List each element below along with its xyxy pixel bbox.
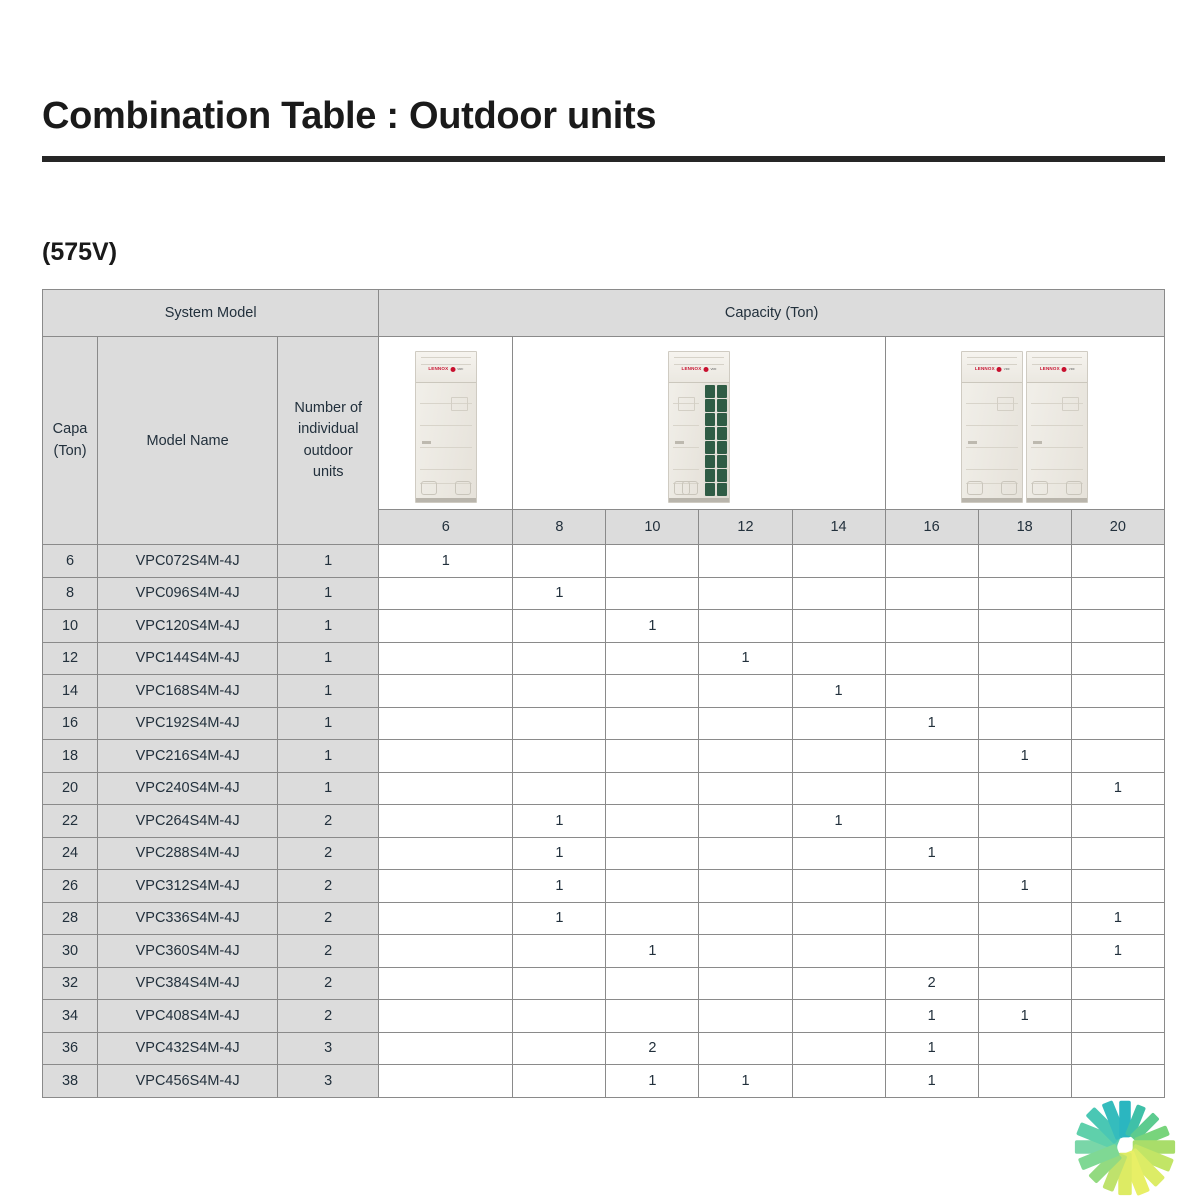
panel-vent bbox=[422, 441, 431, 444]
capacity-column-header-8: 8 bbox=[513, 510, 606, 545]
row-capa-ton: 32 bbox=[43, 967, 98, 1000]
row-capa-ton: 36 bbox=[43, 1032, 98, 1065]
matrix-cell-12ton bbox=[699, 675, 792, 708]
unit-body bbox=[1027, 383, 1087, 498]
unit-top-grille: LENNOXVRF bbox=[962, 352, 1022, 383]
matrix-cell-18ton bbox=[978, 1065, 1071, 1098]
matrix-cell-8ton bbox=[513, 967, 606, 1000]
matrix-cell-10ton: 1 bbox=[606, 610, 699, 643]
title-underline-rule bbox=[42, 156, 1165, 162]
unit-top-grille: LENNOXVRF bbox=[669, 352, 729, 383]
table-group-header-row: System ModelCapacity (Ton) bbox=[43, 290, 1165, 337]
row-number-of-units: 2 bbox=[278, 837, 379, 870]
panel-hatch bbox=[678, 397, 695, 411]
unit-base-rail bbox=[1027, 498, 1087, 502]
lennox-dot-icon bbox=[450, 367, 455, 372]
lennox-subtext: VRF bbox=[710, 368, 716, 371]
coil-fin bbox=[717, 385, 727, 398]
unit-front-panel bbox=[669, 383, 703, 498]
table-row: 30VPC360S4M-4J211 bbox=[43, 935, 1165, 968]
row-number-of-units: 1 bbox=[278, 610, 379, 643]
row-capa-ton: 6 bbox=[43, 545, 98, 578]
header-num-line4: units bbox=[278, 462, 378, 483]
unit-base-rail bbox=[416, 498, 476, 502]
panel-hatch bbox=[451, 397, 468, 411]
coil-fin bbox=[717, 441, 727, 454]
matrix-cell-20ton bbox=[1071, 1000, 1164, 1033]
matrix-cell-16ton: 2 bbox=[885, 967, 978, 1000]
row-capa-ton: 38 bbox=[43, 1065, 98, 1098]
matrix-cell-20ton bbox=[1071, 675, 1164, 708]
row-number-of-units: 1 bbox=[278, 642, 379, 675]
matrix-cell-16ton bbox=[885, 772, 978, 805]
table-row: 18VPC216S4M-4J11 bbox=[43, 740, 1165, 773]
matrix-cell-16ton bbox=[885, 870, 978, 903]
table-row: 22VPC264S4M-4J211 bbox=[43, 805, 1165, 838]
panel-seam bbox=[673, 469, 699, 470]
unit-body bbox=[416, 383, 476, 498]
matrix-cell-16ton bbox=[885, 642, 978, 675]
coil-fin bbox=[717, 469, 727, 482]
matrix-cell-16ton: 1 bbox=[885, 1000, 978, 1033]
row-model-name: VPC120S4M-4J bbox=[98, 610, 278, 643]
unit-image-group: LENNOXVRF bbox=[513, 337, 884, 509]
matrix-cell-20ton bbox=[1071, 1065, 1164, 1098]
coil-fin bbox=[705, 413, 715, 426]
matrix-cell-12ton bbox=[699, 1032, 792, 1065]
matrix-cell-20ton: 1 bbox=[1071, 935, 1164, 968]
matrix-cell-16ton bbox=[885, 577, 978, 610]
matrix-cell-20ton: 1 bbox=[1071, 772, 1164, 805]
coil-fin bbox=[705, 399, 715, 412]
outdoor-unit-illustration: LENNOXVRF bbox=[961, 351, 1023, 503]
combination-table: System ModelCapacity (Ton)Capa(Ton)Model… bbox=[42, 289, 1165, 1098]
matrix-cell-8ton bbox=[513, 772, 606, 805]
matrix-cell-16ton: 1 bbox=[885, 1065, 978, 1098]
capacity-column-header-14: 14 bbox=[792, 510, 885, 545]
row-model-name: VPC216S4M-4J bbox=[98, 740, 278, 773]
matrix-cell-8ton: 1 bbox=[513, 837, 606, 870]
row-model-name: VPC384S4M-4J bbox=[98, 967, 278, 1000]
row-capa-ton: 8 bbox=[43, 577, 98, 610]
table-row: 12VPC144S4M-4J11 bbox=[43, 642, 1165, 675]
table-row: 20VPC240S4M-4J11 bbox=[43, 772, 1165, 805]
matrix-cell-6ton bbox=[379, 1065, 513, 1098]
matrix-cell-14ton bbox=[792, 1000, 885, 1033]
matrix-cell-8ton bbox=[513, 740, 606, 773]
matrix-cell-16ton bbox=[885, 805, 978, 838]
panel-seam bbox=[420, 447, 472, 448]
matrix-cell-20ton bbox=[1071, 1032, 1164, 1065]
matrix-cell-18ton: 1 bbox=[978, 1000, 1071, 1033]
capacity-column-header-18: 18 bbox=[978, 510, 1071, 545]
matrix-cell-20ton: 1 bbox=[1071, 902, 1164, 935]
row-capa-ton: 18 bbox=[43, 740, 98, 773]
row-number-of-units: 1 bbox=[278, 772, 379, 805]
outdoor-unit-illustration: LENNOXVRF bbox=[415, 351, 477, 503]
row-model-name: VPC456S4M-4J bbox=[98, 1065, 278, 1098]
panel-base-l bbox=[421, 481, 437, 495]
row-number-of-units: 3 bbox=[278, 1065, 379, 1098]
matrix-cell-6ton bbox=[379, 870, 513, 903]
unit-front-panel bbox=[1027, 383, 1087, 498]
matrix-cell-14ton bbox=[792, 545, 885, 578]
matrix-cell-14ton bbox=[792, 902, 885, 935]
matrix-cell-12ton bbox=[699, 740, 792, 773]
matrix-cell-14ton bbox=[792, 967, 885, 1000]
coil-fin bbox=[717, 427, 727, 440]
panel-base-r bbox=[682, 481, 698, 495]
row-model-name: VPC336S4M-4J bbox=[98, 902, 278, 935]
coil-fin bbox=[717, 483, 727, 496]
row-number-of-units: 2 bbox=[278, 870, 379, 903]
row-number-of-units: 2 bbox=[278, 935, 379, 968]
matrix-cell-8ton bbox=[513, 1065, 606, 1098]
matrix-cell-20ton bbox=[1071, 740, 1164, 773]
matrix-cell-6ton bbox=[379, 740, 513, 773]
matrix-cell-18ton bbox=[978, 545, 1071, 578]
lennox-dot-icon bbox=[1062, 367, 1067, 372]
panel-base-l bbox=[1032, 481, 1048, 495]
panel-base-r bbox=[1066, 481, 1082, 495]
header-capacity-ton: Capacity (Ton) bbox=[379, 290, 1165, 337]
matrix-cell-6ton bbox=[379, 675, 513, 708]
row-capa-ton: 12 bbox=[43, 642, 98, 675]
table-row: 32VPC384S4M-4J22 bbox=[43, 967, 1165, 1000]
matrix-cell-10ton bbox=[606, 740, 699, 773]
table-subheader-image-row: Capa(Ton)Model NameNumber ofindividualou… bbox=[43, 337, 1165, 510]
matrix-cell-6ton bbox=[379, 805, 513, 838]
matrix-cell-8ton: 1 bbox=[513, 577, 606, 610]
twin-outdoor-unit: LENNOXVRFLENNOXVRF bbox=[885, 337, 1164, 510]
outdoor-unit-illustration: LENNOXVRF bbox=[1026, 351, 1088, 503]
panel-seam bbox=[1031, 469, 1083, 470]
row-capa-ton: 20 bbox=[43, 772, 98, 805]
matrix-cell-20ton bbox=[1071, 967, 1164, 1000]
lennox-wordmark: LENNOX bbox=[975, 367, 995, 372]
matrix-cell-14ton bbox=[792, 610, 885, 643]
header-num-line3: outdoor bbox=[278, 441, 378, 462]
lennox-brand-logo-icon: LENNOXVRF bbox=[1040, 367, 1075, 372]
panel-vent bbox=[968, 441, 977, 444]
matrix-cell-18ton: 1 bbox=[978, 870, 1071, 903]
row-model-name: VPC288S4M-4J bbox=[98, 837, 278, 870]
unit-image-group: LENNOXVRF bbox=[379, 337, 512, 509]
matrix-cell-20ton bbox=[1071, 837, 1164, 870]
panel-hatch bbox=[997, 397, 1014, 411]
capacity-column-header-10: 10 bbox=[606, 510, 699, 545]
header-model-name: Model Name bbox=[98, 337, 278, 545]
panel-seam bbox=[673, 425, 699, 426]
page-root: Combination Table : Outdoor units (575V)… bbox=[0, 0, 1200, 1200]
header-capa-line2: (Ton) bbox=[43, 441, 97, 462]
matrix-cell-10ton: 2 bbox=[606, 1032, 699, 1065]
row-model-name: VPC360S4M-4J bbox=[98, 935, 278, 968]
coil-fin bbox=[705, 455, 715, 468]
matrix-cell-10ton: 1 bbox=[606, 1065, 699, 1098]
matrix-cell-20ton bbox=[1071, 610, 1164, 643]
matrix-cell-6ton bbox=[379, 1000, 513, 1033]
table-row: 28VPC336S4M-4J211 bbox=[43, 902, 1165, 935]
panel-hatch bbox=[1062, 397, 1079, 411]
matrix-cell-8ton: 1 bbox=[513, 805, 606, 838]
matrix-cell-18ton bbox=[978, 1032, 1071, 1065]
row-model-name: VPC192S4M-4J bbox=[98, 707, 278, 740]
lennox-dot-icon bbox=[703, 367, 708, 372]
matrix-cell-10ton bbox=[606, 902, 699, 935]
coil-fin bbox=[705, 469, 715, 482]
matrix-cell-20ton bbox=[1071, 805, 1164, 838]
row-model-name: VPC096S4M-4J bbox=[98, 577, 278, 610]
matrix-cell-6ton bbox=[379, 935, 513, 968]
matrix-cell-8ton bbox=[513, 545, 606, 578]
matrix-cell-12ton bbox=[699, 610, 792, 643]
matrix-cell-12ton bbox=[699, 902, 792, 935]
lennox-wordmark: LENNOX bbox=[1040, 367, 1060, 372]
capacity-column-header-16: 16 bbox=[885, 510, 978, 545]
unit-front-panel bbox=[962, 383, 1022, 498]
panel-seam bbox=[966, 469, 1018, 470]
lennox-dot-icon bbox=[997, 367, 1002, 372]
matrix-cell-6ton bbox=[379, 837, 513, 870]
matrix-cell-10ton bbox=[606, 837, 699, 870]
page-title: Combination Table : Outdoor units bbox=[42, 95, 656, 138]
matrix-cell-6ton bbox=[379, 772, 513, 805]
matrix-cell-14ton bbox=[792, 707, 885, 740]
matrix-cell-10ton bbox=[606, 870, 699, 903]
lennox-brand-logo-icon: LENNOXVRF bbox=[681, 367, 716, 372]
coil-fin bbox=[705, 385, 715, 398]
unit-front-panel bbox=[416, 383, 476, 498]
matrix-cell-16ton bbox=[885, 545, 978, 578]
header-capa-line1: Capa bbox=[43, 419, 97, 440]
table-row: 8VPC096S4M-4J11 bbox=[43, 577, 1165, 610]
row-model-name: VPC072S4M-4J bbox=[98, 545, 278, 578]
matrix-cell-20ton bbox=[1071, 707, 1164, 740]
row-capa-ton: 22 bbox=[43, 805, 98, 838]
matrix-cell-14ton bbox=[792, 740, 885, 773]
lennox-wordmark: LENNOX bbox=[428, 367, 448, 372]
row-model-name: VPC168S4M-4J bbox=[98, 675, 278, 708]
matrix-cell-16ton: 1 bbox=[885, 1032, 978, 1065]
matrix-cell-12ton bbox=[699, 837, 792, 870]
row-number-of-units: 2 bbox=[278, 902, 379, 935]
combination-table-wrapper: System ModelCapacity (Ton)Capa(Ton)Model… bbox=[42, 289, 1165, 1098]
matrix-cell-18ton bbox=[978, 577, 1071, 610]
matrix-cell-12ton bbox=[699, 935, 792, 968]
matrix-cell-16ton bbox=[885, 935, 978, 968]
lennox-subtext: VRF bbox=[457, 368, 463, 371]
matrix-cell-10ton bbox=[606, 805, 699, 838]
matrix-cell-14ton bbox=[792, 772, 885, 805]
row-model-name: VPC432S4M-4J bbox=[98, 1032, 278, 1065]
matrix-cell-10ton bbox=[606, 577, 699, 610]
table-row: 38VPC456S4M-4J3111 bbox=[43, 1065, 1165, 1098]
matrix-cell-12ton bbox=[699, 772, 792, 805]
row-capa-ton: 34 bbox=[43, 1000, 98, 1033]
matrix-cell-14ton bbox=[792, 1032, 885, 1065]
voltage-subtitle: (575V) bbox=[42, 238, 117, 267]
row-number-of-units: 2 bbox=[278, 1000, 379, 1033]
matrix-cell-18ton: 1 bbox=[978, 740, 1071, 773]
matrix-cell-10ton bbox=[606, 967, 699, 1000]
row-capa-ton: 28 bbox=[43, 902, 98, 935]
matrix-cell-8ton bbox=[513, 642, 606, 675]
matrix-cell-14ton: 1 bbox=[792, 675, 885, 708]
matrix-cell-14ton bbox=[792, 935, 885, 968]
matrix-cell-16ton bbox=[885, 902, 978, 935]
capacity-column-header-6: 6 bbox=[379, 510, 513, 545]
row-number-of-units: 3 bbox=[278, 1032, 379, 1065]
matrix-cell-14ton: 1 bbox=[792, 805, 885, 838]
matrix-cell-16ton: 1 bbox=[885, 837, 978, 870]
matrix-cell-12ton bbox=[699, 1000, 792, 1033]
matrix-cell-10ton bbox=[606, 707, 699, 740]
row-capa-ton: 26 bbox=[43, 870, 98, 903]
matrix-cell-6ton bbox=[379, 707, 513, 740]
matrix-cell-6ton bbox=[379, 902, 513, 935]
matrix-cell-18ton bbox=[978, 967, 1071, 1000]
lennox-subtext: VRF bbox=[1069, 368, 1075, 371]
row-model-name: VPC264S4M-4J bbox=[98, 805, 278, 838]
panel-seam bbox=[673, 447, 699, 448]
panel-base-r bbox=[455, 481, 471, 495]
table-row: 14VPC168S4M-4J11 bbox=[43, 675, 1165, 708]
matrix-cell-16ton: 1 bbox=[885, 707, 978, 740]
panel-vent bbox=[1033, 441, 1042, 444]
header-number-of-individual-outdoor-units: Number ofindividualoutdoorunits bbox=[278, 337, 379, 545]
matrix-cell-16ton bbox=[885, 610, 978, 643]
matrix-cell-10ton bbox=[606, 772, 699, 805]
row-capa-ton: 14 bbox=[43, 675, 98, 708]
matrix-cell-8ton: 1 bbox=[513, 902, 606, 935]
matrix-cell-18ton bbox=[978, 642, 1071, 675]
header-capa-ton: Capa(Ton) bbox=[43, 337, 98, 545]
matrix-cell-16ton bbox=[885, 675, 978, 708]
table-row: 34VPC408S4M-4J211 bbox=[43, 1000, 1165, 1033]
table-row: 26VPC312S4M-4J211 bbox=[43, 870, 1165, 903]
panel-seam bbox=[966, 425, 1018, 426]
matrix-cell-6ton bbox=[379, 610, 513, 643]
unit-top-grille: LENNOXVRF bbox=[416, 352, 476, 383]
table-row: 36VPC432S4M-4J321 bbox=[43, 1032, 1165, 1065]
row-model-name: VPC144S4M-4J bbox=[98, 642, 278, 675]
table-row: 10VPC120S4M-4J11 bbox=[43, 610, 1165, 643]
matrix-cell-18ton bbox=[978, 837, 1071, 870]
row-number-of-units: 1 bbox=[278, 740, 379, 773]
matrix-cell-18ton bbox=[978, 707, 1071, 740]
coil-fin bbox=[717, 399, 727, 412]
matrix-cell-8ton bbox=[513, 707, 606, 740]
matrix-cell-12ton: 1 bbox=[699, 642, 792, 675]
matrix-cell-14ton bbox=[792, 837, 885, 870]
matrix-cell-12ton bbox=[699, 707, 792, 740]
matrix-cell-10ton bbox=[606, 545, 699, 578]
panel-vent bbox=[675, 441, 684, 444]
row-model-name: VPC240S4M-4J bbox=[98, 772, 278, 805]
matrix-cell-14ton bbox=[792, 870, 885, 903]
unit-top-grille: LENNOXVRF bbox=[1027, 352, 1087, 383]
row-capa-ton: 24 bbox=[43, 837, 98, 870]
coil-fin bbox=[705, 483, 715, 496]
row-capa-ton: 30 bbox=[43, 935, 98, 968]
header-system-model: System Model bbox=[43, 290, 379, 337]
matrix-cell-8ton: 1 bbox=[513, 870, 606, 903]
row-number-of-units: 1 bbox=[278, 707, 379, 740]
row-capa-ton: 10 bbox=[43, 610, 98, 643]
matrix-cell-20ton bbox=[1071, 545, 1164, 578]
matrix-cell-18ton bbox=[978, 805, 1071, 838]
capacity-column-header-20: 20 bbox=[1071, 510, 1164, 545]
coil-fin bbox=[705, 441, 715, 454]
matrix-cell-12ton bbox=[699, 805, 792, 838]
panel-seam bbox=[1031, 425, 1083, 426]
lennox-brand-logo-icon: LENNOXVRF bbox=[428, 367, 463, 372]
panel-seam bbox=[420, 469, 472, 470]
matrix-cell-10ton bbox=[606, 675, 699, 708]
matrix-cell-18ton bbox=[978, 935, 1071, 968]
matrix-cell-8ton bbox=[513, 1000, 606, 1033]
matrix-cell-8ton bbox=[513, 610, 606, 643]
unit-body bbox=[669, 383, 729, 498]
matrix-cell-6ton bbox=[379, 1032, 513, 1065]
matrix-cell-14ton bbox=[792, 1065, 885, 1098]
matrix-cell-18ton bbox=[978, 610, 1071, 643]
row-number-of-units: 1 bbox=[278, 577, 379, 610]
header-num-line1: Number of bbox=[278, 398, 378, 419]
matrix-cell-12ton bbox=[699, 545, 792, 578]
row-number-of-units: 2 bbox=[278, 967, 379, 1000]
panel-base-l bbox=[967, 481, 983, 495]
single-outdoor-unit-with-coil: LENNOXVRF bbox=[513, 337, 885, 510]
panel-seam bbox=[1031, 447, 1083, 448]
matrix-cell-18ton bbox=[978, 772, 1071, 805]
matrix-cell-12ton bbox=[699, 967, 792, 1000]
row-model-name: VPC408S4M-4J bbox=[98, 1000, 278, 1033]
matrix-cell-20ton bbox=[1071, 870, 1164, 903]
matrix-cell-8ton bbox=[513, 935, 606, 968]
row-capa-ton: 16 bbox=[43, 707, 98, 740]
capacity-column-header-12: 12 bbox=[699, 510, 792, 545]
matrix-cell-10ton: 1 bbox=[606, 935, 699, 968]
unit-body bbox=[962, 383, 1022, 498]
matrix-cell-6ton bbox=[379, 967, 513, 1000]
single-outdoor-unit-no-coil: LENNOXVRF bbox=[379, 337, 513, 510]
header-num-line2: individual bbox=[278, 419, 378, 440]
matrix-cell-18ton bbox=[978, 675, 1071, 708]
row-number-of-units: 2 bbox=[278, 805, 379, 838]
outdoor-unit-illustration: LENNOXVRF bbox=[668, 351, 730, 503]
heat-exchanger-coil bbox=[703, 383, 729, 498]
matrix-cell-12ton: 1 bbox=[699, 1065, 792, 1098]
table-row: 16VPC192S4M-4J11 bbox=[43, 707, 1165, 740]
matrix-cell-18ton bbox=[978, 902, 1071, 935]
matrix-cell-8ton bbox=[513, 1032, 606, 1065]
lennox-wordmark: LENNOX bbox=[681, 367, 701, 372]
matrix-cell-6ton: 1 bbox=[379, 545, 513, 578]
matrix-cell-16ton bbox=[885, 740, 978, 773]
matrix-cell-10ton bbox=[606, 1000, 699, 1033]
matrix-cell-10ton bbox=[606, 642, 699, 675]
unit-base-rail bbox=[962, 498, 1022, 502]
table-row: 24VPC288S4M-4J211 bbox=[43, 837, 1165, 870]
matrix-cell-6ton bbox=[379, 642, 513, 675]
matrix-cell-14ton bbox=[792, 642, 885, 675]
matrix-cell-12ton bbox=[699, 577, 792, 610]
lennox-subtext: VRF bbox=[1004, 368, 1010, 371]
coil-fin bbox=[717, 455, 727, 468]
panel-seam bbox=[966, 447, 1018, 448]
